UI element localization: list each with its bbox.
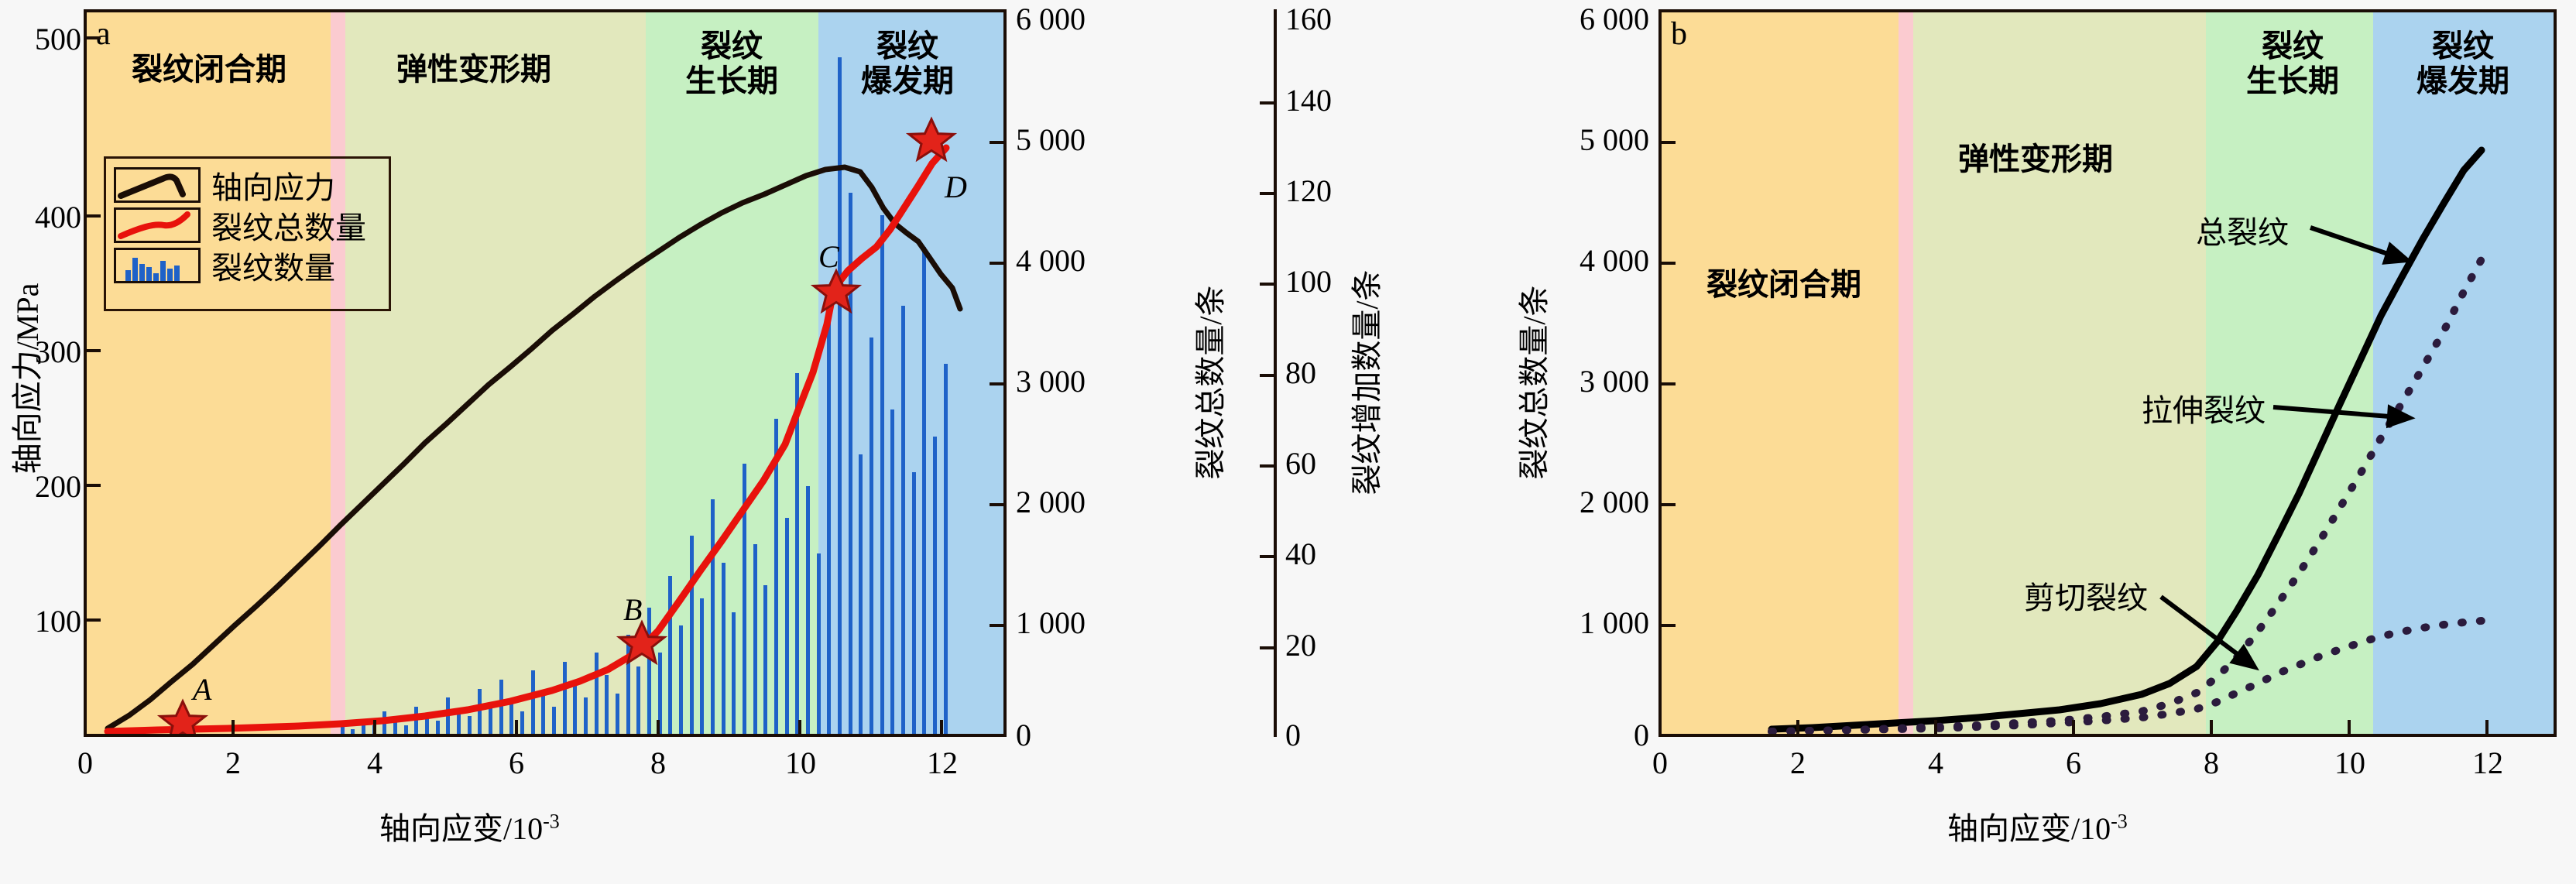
panel-b-xtick-10 bbox=[2348, 720, 2351, 737]
panel-a-yright2-label-20: 20 bbox=[1285, 630, 1316, 661]
panel-a-yright1-label-0: 0 bbox=[1016, 720, 1031, 751]
legend-label-crack-count: 裂纹数量 bbox=[211, 243, 335, 288]
panel-b-yleft-tickmark-1000 bbox=[1658, 624, 1676, 627]
arrow-line-total-cracks bbox=[2310, 228, 2388, 254]
panel-a-yright1-tickmark-3000 bbox=[990, 382, 1007, 385]
marker-star-c bbox=[814, 271, 859, 311]
panel-a-xaxis-title: 轴向应变/10-3 bbox=[379, 803, 560, 848]
panel-b-xtick-label-12: 12 bbox=[2468, 748, 2508, 779]
panel-b-xtick-6 bbox=[2072, 720, 2075, 737]
panel-a-xaxis-title-text: 轴向应变/10 bbox=[379, 811, 543, 846]
legend-item-axial-stress[interactable]: 轴向应力 bbox=[114, 165, 381, 205]
panel-b-curve-total-cracks bbox=[1772, 150, 2482, 729]
panel-b-xtick-label-0: 0 bbox=[1648, 748, 1672, 779]
panel-a-yright2-tickmark-80 bbox=[1260, 374, 1275, 377]
panel-b-yleft-label-0: 0 bbox=[1510, 720, 1649, 751]
panel-a-yleft-tick-500: 500 bbox=[8, 24, 81, 55]
panel-b-yleft-tickmark-2000 bbox=[1658, 503, 1676, 506]
panel-b-annotation-tensile-cracks: 拉伸裂纹 bbox=[2142, 385, 2266, 430]
panel-b-yleft-tickmark-3000 bbox=[1658, 382, 1676, 385]
arrow-head-tensile-cracks bbox=[2389, 408, 2410, 427]
panel-b-xtick-label-8: 8 bbox=[2200, 748, 2223, 779]
legend-key-axial-stress bbox=[114, 167, 201, 203]
panel-a-yright2-label-160: 160 bbox=[1285, 4, 1332, 35]
panel-a-xtick-10 bbox=[798, 720, 801, 737]
marker-star-b bbox=[619, 622, 664, 663]
panel-a-yright2-tickmark-20 bbox=[1260, 646, 1275, 649]
legend-label-axial-stress: 轴向应力 bbox=[211, 163, 335, 207]
panel-a-plot-area: 裂纹闭合期 弹性变形期 裂纹生长期 裂纹爆发期 A B C D bbox=[84, 9, 1007, 737]
panel-a-xtick-label-12: 12 bbox=[922, 748, 962, 779]
panel-b-zone-label-crack-closure: 裂纹闭合期 bbox=[1668, 268, 1900, 303]
panel-b-xtick-8 bbox=[2210, 720, 2213, 737]
panel-a-yright2-spine bbox=[1274, 9, 1277, 737]
panel-a-yright2-tickmark-120 bbox=[1260, 192, 1275, 195]
panel-a-xtick-label-10: 10 bbox=[780, 748, 821, 779]
panel-a-yright1-label-3000: 3 000 bbox=[1016, 366, 1086, 397]
marker-star-d bbox=[909, 119, 954, 159]
legend-label-total-cracks: 裂纹总数量 bbox=[211, 203, 366, 248]
panel-b-annotation-arrows bbox=[2161, 228, 2410, 673]
panel-b-zone-label-crack-growth: 裂纹生长期 bbox=[2204, 29, 2382, 99]
panel-a-yright2-label-120: 120 bbox=[1285, 176, 1332, 207]
panel-a-xtick-label-6: 6 bbox=[505, 748, 528, 779]
panel-b-xtick-2 bbox=[1796, 720, 1799, 737]
panel-a-yright1-label-1000: 1 000 bbox=[1016, 608, 1086, 639]
panel-a-yright1-label-6000: 6 000 bbox=[1016, 4, 1086, 35]
panel-a-yright1-label-4000: 4 000 bbox=[1016, 245, 1086, 276]
marker-label-c: C bbox=[818, 238, 839, 275]
panel-b-xaxis-title-text: 轴向应变/10 bbox=[1947, 811, 2111, 846]
panel-b-xtick-label-10: 10 bbox=[2330, 748, 2370, 779]
panel-b-zone-label-elastic: 弹性变形期 bbox=[1916, 142, 2156, 177]
panel-a-yleft-tickmark-400 bbox=[84, 214, 101, 218]
panel-a-yright2-tickmark-100 bbox=[1260, 283, 1275, 286]
panel-a-yright2-label-60: 60 bbox=[1285, 448, 1316, 479]
panel-a-yright2-tickmark-40 bbox=[1260, 555, 1275, 558]
panel-b-xtick-label-2: 2 bbox=[1786, 748, 1809, 779]
panel-b-yleft-tickmark-5000 bbox=[1658, 141, 1676, 144]
legend-key-crack-count bbox=[114, 248, 201, 283]
panel-a-yright2-tickmark-60 bbox=[1260, 464, 1275, 468]
panel-a-yright2-label-100: 100 bbox=[1285, 266, 1332, 297]
panel-a-xtick-label-8: 8 bbox=[647, 748, 670, 779]
marker-label-a: A bbox=[193, 671, 211, 708]
panel-b-yleft-tickmark-4000 bbox=[1658, 262, 1676, 265]
panel-a-yright1-label-5000: 5 000 bbox=[1016, 125, 1086, 156]
panel-b-yleft-axis-title: 裂纹总数量/条 bbox=[1509, 259, 1554, 506]
panel-a-markers bbox=[87, 12, 1003, 734]
panel-a-xtick-label-0: 0 bbox=[74, 748, 97, 779]
panel-a-yleft-tickmark-300 bbox=[84, 349, 101, 352]
panel-b-xaxis-title-exponent: -3 bbox=[2111, 810, 2128, 833]
panel-b-xtick-12 bbox=[2485, 720, 2489, 737]
panel-a-legend: 轴向应力 裂纹总数量 bbox=[104, 156, 391, 311]
panel-b-xtick-label-6: 6 bbox=[2062, 748, 2085, 779]
panel-a-yright2-axis-title: 裂纹增加数量/条 bbox=[1342, 235, 1387, 529]
panel-b-yleft-label-1000: 1 000 bbox=[1510, 608, 1649, 639]
panel-a-yleft-tick-100: 100 bbox=[8, 606, 81, 637]
panel-a-yright1-tickmark-1000 bbox=[990, 624, 1007, 627]
panel-a-yright1-tickmark-5000 bbox=[990, 141, 1007, 144]
panel-a-xtick-6 bbox=[515, 720, 518, 737]
panel-b-letter: b bbox=[1671, 15, 1687, 53]
panel-a-xtick-12 bbox=[940, 720, 943, 737]
panel-a-yright1-tickmark-2000 bbox=[990, 503, 1007, 506]
panel-a-yleft-tickmark-200 bbox=[84, 484, 101, 487]
panel-b-yleft-label-5000: 5 000 bbox=[1510, 125, 1649, 156]
panel-a-yright2-label-40: 40 bbox=[1285, 539, 1316, 570]
panel-a-yleft-tickmark-100 bbox=[84, 618, 101, 622]
legend-item-crack-count[interactable]: 裂纹数量 bbox=[114, 245, 381, 286]
panel-b-annotation-shear-cracks: 剪切裂纹 bbox=[2024, 573, 2148, 618]
panel-a-xtick-label-2: 2 bbox=[221, 748, 245, 779]
panel-a-letter: a bbox=[96, 15, 111, 53]
legend-item-total-cracks[interactable]: 裂纹总数量 bbox=[114, 205, 381, 245]
panel-b-chart-svg bbox=[1662, 12, 2554, 734]
panel-a-yright2-label-0: 0 bbox=[1285, 720, 1301, 751]
panel-a-yright1-tickmark-4000 bbox=[990, 262, 1007, 265]
figure-root: 500 400 300 200 100 轴向应力/MPa bbox=[0, 0, 2576, 884]
panel-a-yright1-label-2000: 2 000 bbox=[1016, 487, 1086, 518]
panel-a-yright2-label-140: 140 bbox=[1285, 85, 1332, 116]
panel-a-yright2-tickmark-140 bbox=[1260, 101, 1275, 105]
panel-b-yleft-label-6000: 6 000 bbox=[1510, 4, 1649, 35]
marker-label-d: D bbox=[945, 169, 967, 205]
panel-a-yleft-axis-title: 轴向应力/MPa bbox=[2, 255, 47, 502]
panel-b-annotation-total-cracks: 总裂纹 bbox=[2196, 207, 2289, 252]
panel-a-xaxis-title-exponent: -3 bbox=[543, 810, 560, 833]
panel-a-yleft-tick-400: 400 bbox=[8, 202, 81, 233]
panel-a-yright1-axis-title: 裂纹总数量/条 bbox=[1185, 259, 1230, 506]
panel-b-zone-label-crack-burst: 裂纹爆发期 bbox=[2374, 29, 2552, 99]
panel-a-yright2-label-80: 80 bbox=[1285, 358, 1316, 389]
legend-key-total-cracks bbox=[114, 207, 201, 243]
panel-b-plot-area: 裂纹闭合期 弹性变形期 裂纹生长期 裂纹爆发期 总裂纹 拉伸裂纹 剪切裂纹 b bbox=[1658, 9, 2557, 737]
panel-a-xtick-2 bbox=[232, 720, 235, 737]
panel-a-yleft-tickmark-500 bbox=[84, 36, 101, 39]
panel-b-xtick-4 bbox=[1934, 720, 1937, 737]
panel-a-xtick-label-4: 4 bbox=[363, 748, 386, 779]
panel-a-xtick-8 bbox=[657, 720, 660, 737]
panel-a-xtick-4 bbox=[373, 720, 376, 737]
panel-b-xtick-label-4: 4 bbox=[1924, 748, 1947, 779]
marker-label-b: B bbox=[623, 591, 642, 628]
panel-b-xaxis-title: 轴向应变/10-3 bbox=[1947, 803, 2128, 848]
